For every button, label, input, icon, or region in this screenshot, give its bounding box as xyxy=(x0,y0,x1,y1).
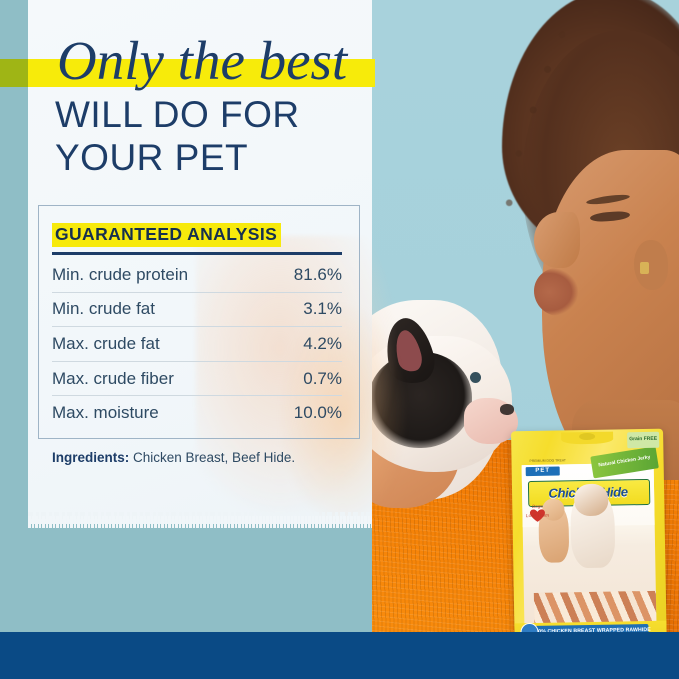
nutrient-value: 4.2% xyxy=(303,334,342,354)
card-torn-edge xyxy=(28,516,372,528)
nutrient-value: 81.6% xyxy=(294,265,342,285)
table-row: Max. crude fiber 0.7% xyxy=(52,362,342,397)
guaranteed-analysis-title: GUARANTEED ANALYSIS xyxy=(52,223,281,247)
nutrient-label: Max. crude fat xyxy=(52,334,160,354)
nutrient-label: Max. crude fiber xyxy=(52,369,174,389)
guaranteed-analysis-rule xyxy=(52,252,342,255)
nutrient-value: 3.1% xyxy=(303,299,342,319)
headline-subline-1: WILL DO FOR xyxy=(55,94,375,137)
earring-icon xyxy=(640,262,649,274)
left-teal-strip xyxy=(0,0,28,632)
table-row: Min. crude protein 81.6% xyxy=(52,258,342,293)
nutrient-label: Min. crude fat xyxy=(52,299,155,319)
headline-highlight-bar-shadow xyxy=(0,59,28,87)
model-nose xyxy=(534,212,580,268)
nutrient-value: 10.0% xyxy=(294,403,342,423)
ingredients-label: Ingredients: xyxy=(52,450,129,465)
package-brand-tab-text: PET xyxy=(526,466,560,477)
guaranteed-analysis-title-wrap: GUARANTEED ANALYSIS xyxy=(52,223,281,247)
table-row: Min. crude fat 3.1% xyxy=(52,293,342,328)
package-heart-caption: Dogs Love Them xyxy=(520,503,554,521)
nutrient-label: Max. moisture xyxy=(52,403,159,423)
table-row: Max. crude fat 4.2% xyxy=(52,327,342,362)
package-puppy-large-head xyxy=(574,484,609,517)
guaranteed-analysis-table: Min. crude protein 81.6% Min. crude fat … xyxy=(52,258,342,430)
package-heart-caption-bottom: Love Them xyxy=(520,511,554,520)
nutrient-label: Min. crude protein xyxy=(52,265,188,285)
ingredients-value: Chicken Breast, Beef Hide. xyxy=(129,450,295,465)
table-row: Max. moisture 10.0% xyxy=(52,396,342,430)
headline-script: Only the best xyxy=(57,33,387,88)
bottom-accent-bar xyxy=(0,632,679,679)
model-lips xyxy=(534,268,578,316)
ingredients-line: Ingredients: Chicken Breast, Beef Hide. xyxy=(52,450,362,465)
poster-canvas: Only the best WILL DO FOR YOUR PET GUARA… xyxy=(0,0,679,679)
headline-subline-2: YOUR PET xyxy=(55,137,375,180)
puppy-nose xyxy=(500,404,514,415)
puppy-eye xyxy=(470,372,481,383)
product-package: PREMIUM DOG TREAT Natural Chicken Jerky … xyxy=(511,429,667,660)
headline-subline: WILL DO FOR YOUR PET xyxy=(55,94,375,180)
nutrient-value: 0.7% xyxy=(303,369,342,389)
package-corner-badge: Grain FREE xyxy=(627,432,659,449)
